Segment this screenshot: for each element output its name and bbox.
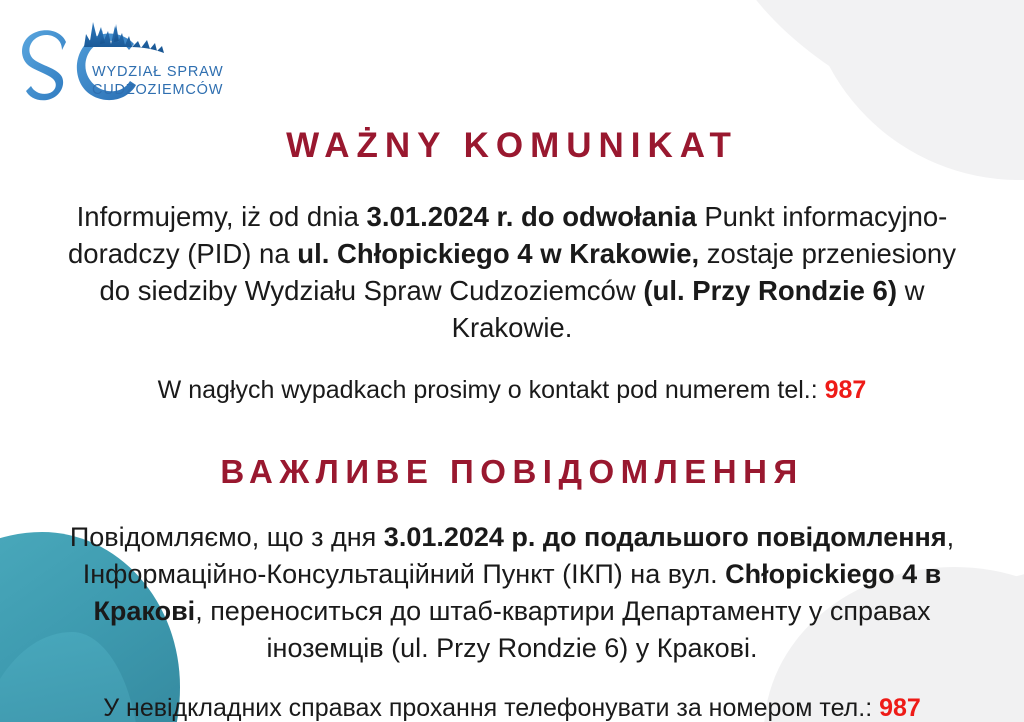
polish-body-bold3: (ul. Przy Rondzie 6) [643,275,897,306]
polish-body-bold1: 3.01.2024 r. do odwołania [367,201,697,232]
polish-body-text: Informujemy, iż od dnia 3.01.2024 r. do … [52,198,972,346]
polish-body-part1: Informujemy, iż od dnia [77,201,367,232]
polish-contact-text: W nagłych wypadkach prosimy o kontakt po… [158,376,825,404]
poster-content: WAŻNY KOMUNIKAT Informujemy, iż od dnia … [0,0,1024,722]
ukrainian-body-part1: Повідомляємо, що з дня [70,522,384,552]
announcement-poster: WYDZIAŁ SPRAW CUDZOZIEMCÓW WAŻNY KOMUNIK… [0,0,1024,722]
ukrainian-contact-line: У невідкладних справах прохання телефону… [52,691,972,722]
ukrainian-emergency-phone-number: 987 [879,694,921,722]
ukrainian-body-part3: , переноситься до штаб-квартири Департам… [195,596,930,663]
ukrainian-headline: ВАЖЛИВЕ ПОВІДОМЛЕННЯ [52,453,972,491]
ukrainian-body-text: Повідомляємо, що з дня 3.01.2024 р. до п… [52,519,972,667]
section-spacer [52,407,972,453]
ukrainian-body-bold1: 3.01.2024 р. до подальшого повідомлення [384,522,947,552]
polish-body-bold2: ul. Chłopickiego 4 w Krakowie, [297,238,699,269]
polish-contact-line: W nagłych wypadkach prosimy o kontakt po… [52,373,972,407]
polish-headline: WAŻNY KOMUNIKAT [52,126,972,166]
polish-emergency-phone-number: 987 [825,376,867,404]
ukrainian-contact-text: У невідкладних справах прохання телефону… [103,694,879,722]
